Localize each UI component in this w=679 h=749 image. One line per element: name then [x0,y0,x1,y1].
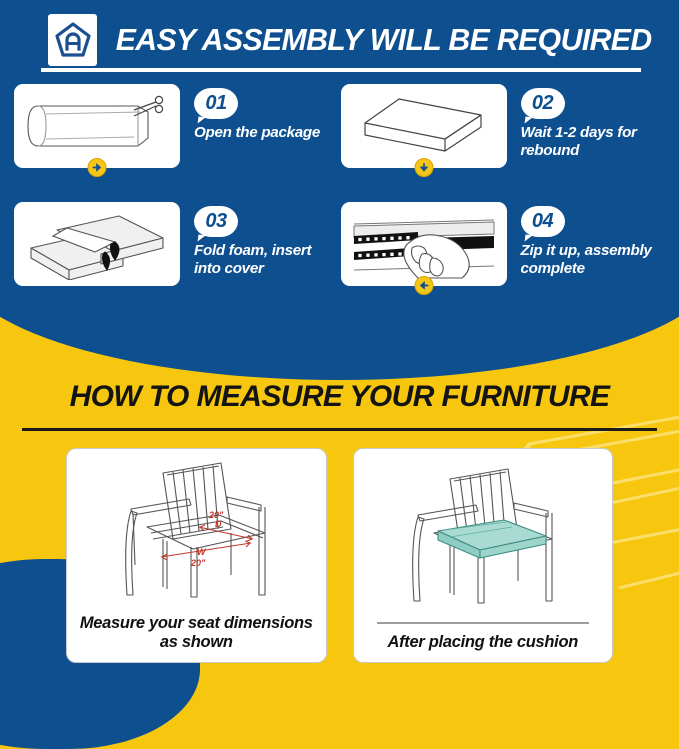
page-title: EASY ASSEMBLY WILL BE REQUIRED [116,23,652,58]
step-04-arrow-badge [414,276,433,295]
measure-card-1-caption: Measure your seat dimensions as shown [73,605,319,662]
step-03-illustration-card [14,202,180,286]
measure-card-2-art [388,455,578,622]
measure-card-1-art: 20" D W 20" [101,455,291,605]
dimension-width-axis: W [197,547,207,557]
dimension-width-value: 20" [190,558,206,568]
hand-closing-zipper-icon [348,208,500,280]
step-02-number: 02 [521,88,565,119]
step-03-text: 03 Fold foam, insert into cover [194,202,339,278]
step-02-arrow-badge [414,158,433,177]
dimension-depth-axis: D [215,519,222,529]
step-02-illustration-card [341,84,507,168]
step-04-label: Zip it up, assembly complete [521,242,666,278]
foam-folded-into-cover-icon [23,208,171,280]
step-01-number: 01 [194,88,238,119]
step-04-text: 04 Zip it up, assembly complete [521,202,666,278]
chair-with-teal-cushion-icon [388,463,578,613]
header-divider [41,68,641,72]
measure-cards: 20" D W 20" Measure your seat dimensions… [0,448,679,663]
step-01-label: Open the package [194,124,320,142]
step-01-arrow-badge [88,158,107,177]
step-03-number: 03 [194,206,238,237]
step-01-text: 01 Open the package [194,84,320,142]
step-02: 02 Wait 1-2 days for rebound [341,84,666,196]
chair-with-dimension-arrows-icon: 20" D W 20" [101,455,291,605]
step-02-text: 02 Wait 1-2 days for rebound [521,84,666,160]
measure-section-title: HOW TO MEASURE YOUR FURNITURE [0,380,679,414]
step-02-label: Wait 1-2 days for rebound [521,124,666,160]
step-03-label: Fold foam, insert into cover [194,242,339,278]
house-pentagon-logo-icon [55,21,91,59]
step-01-illustration-card [14,84,180,168]
measure-card-cushion: After placing the cushion [353,448,614,663]
step-04: 04 Zip it up, assembly complete [341,202,666,314]
measure-section-divider [22,428,657,431]
step-01: 01 Open the package [14,84,339,196]
arrow-left-icon [418,280,429,291]
brand-logo [48,14,97,66]
arrow-right-icon [92,162,103,173]
assembly-steps: 01 Open the package 02 Wait 1-2 days for… [0,84,679,314]
step-04-number: 04 [521,206,565,237]
rolled-package-with-scissors-icon [22,92,172,160]
measure-card-dimensions: 20" D W 20" Measure your seat dimensions… [66,448,327,663]
step-04-illustration-card [341,202,507,286]
flat-foam-cushion-block-icon [359,93,489,159]
arrow-down-icon [418,162,429,173]
step-03: 03 Fold foam, insert into cover [14,202,339,314]
measure-card-2-caption: After placing the cushion [381,624,584,662]
